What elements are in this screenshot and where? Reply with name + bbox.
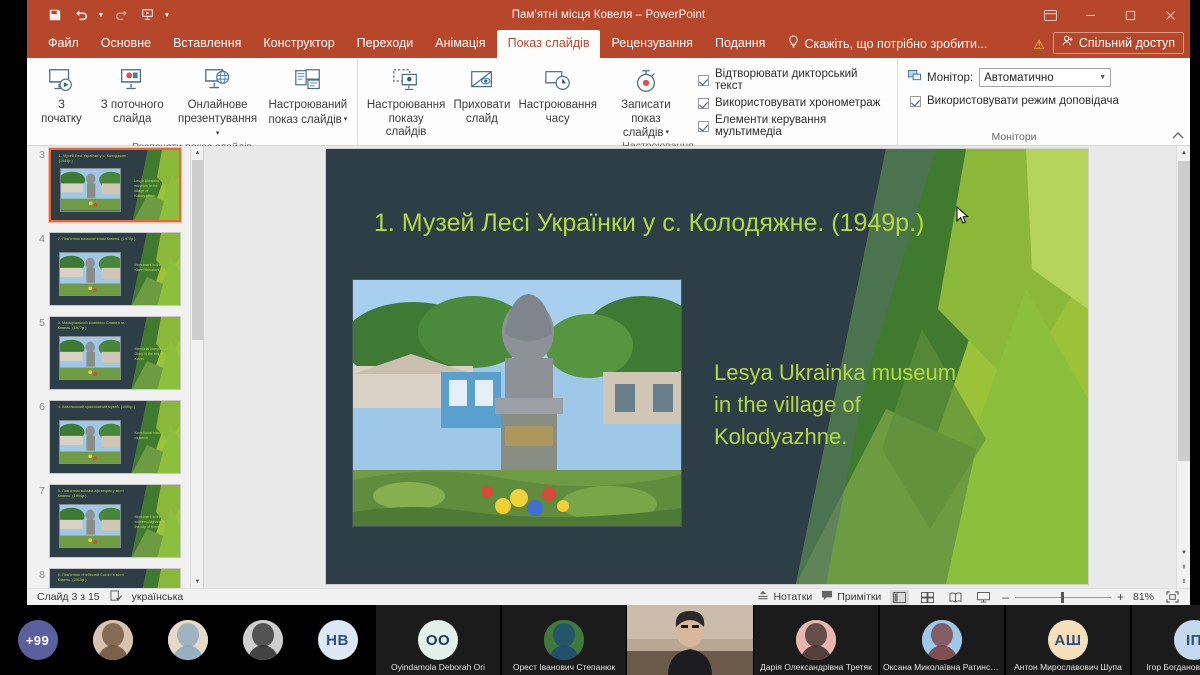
status-bar-right: Нотатки Примітки (757, 590, 1190, 605)
slide-show-options-checkboxes: Відтворювати дикторський текст Використо… (690, 62, 893, 138)
maximize-button[interactable] (1110, 0, 1150, 30)
participant-tile[interactable]: АШАнтон Мирославович Шупа (1005, 605, 1131, 675)
slide-photo[interactable] (352, 279, 682, 527)
slide-thumbnail-7[interactable]: 75. Пам'ятник воїнам-афганцям у місті Ко… (33, 484, 203, 558)
stage-scroll-up-button[interactable]: ▲ (1177, 146, 1190, 160)
thumbnail-scroll-up-button[interactable]: ▲ (191, 146, 204, 159)
ribbon-group-set-up: Настроювання показу слайдів Приховати сл… (357, 58, 897, 146)
zoom-level[interactable]: 81% (1133, 591, 1154, 603)
participant-name: Oyindamola Deborah Ori (376, 662, 500, 672)
set-up-slide-show-button[interactable]: Настроювання показу слайдів (362, 62, 450, 140)
slide-thumbnail-8[interactable]: 86. Пам'ятник «Небесній Сотні» в місті К… (33, 568, 203, 588)
zoom-knob[interactable] (1061, 592, 1064, 603)
quick-access-toolbar: ▼ ▼ (27, 4, 173, 26)
slide-thumbnail-list: 31. Музей Лесі Українки у с. Колодяжне. … (27, 146, 203, 588)
participant-initials-avatar: АШ (1048, 620, 1088, 660)
monitor-icon (908, 70, 921, 85)
warning-icon[interactable]: ⚠ (1033, 38, 1045, 51)
title-bar: ▼ ▼ Пам'ятні місця Ковеля – PowerPoint (27, 0, 1190, 30)
person-add-icon (1062, 35, 1074, 50)
slide-thumbnail-number: 7 (33, 484, 49, 497)
start-slideshow-icon[interactable] (135, 4, 159, 26)
participant-photo-avatar (922, 620, 962, 660)
comments-label: Примітки (837, 591, 881, 603)
rehearse-timings-button[interactable]: Настроювання часу (514, 62, 602, 126)
slide-thumbnail-number: 3 (33, 148, 49, 161)
thumbnail-pane-scrollbar[interactable]: ▲ ▼ (190, 146, 203, 588)
checkbox-use-presenter-view-box[interactable] (910, 96, 921, 107)
slide-sorter-view-button[interactable] (918, 590, 937, 605)
current-slide[interactable]: 1. Музей Лесі Українки у с. Колодяжне. (… (326, 149, 1088, 584)
zoom-in-button[interactable]: + (1117, 591, 1124, 603)
thumbnail-title: 3. Меморіальний комплекс Слави в м. Кове… (58, 321, 136, 331)
zoom-track[interactable] (1015, 597, 1111, 598)
status-bar: Слайд 3 з 15 українська Нотатки (27, 588, 1190, 605)
participant-initials-avatar: OO (418, 620, 458, 660)
participant-name: Антон Мирославович Шупа (1006, 662, 1130, 672)
from-current-slide-icon (117, 64, 147, 98)
from-beginning-label: З початку (41, 99, 82, 126)
from-beginning-button[interactable]: З початку (31, 62, 92, 126)
hide-slide-icon (467, 64, 497, 98)
monitor-row: Монітор: Автоматично ▼ (902, 62, 1111, 87)
tab-design[interactable]: Конструктор (252, 30, 345, 58)
monitor-select[interactable]: Автоматично ▼ (979, 68, 1111, 87)
participant-avatar-tile[interactable] (75, 605, 150, 675)
participant-photo-avatar (168, 620, 208, 660)
tell-me-placeholder: Скажіть, що потрібно зробити... (804, 30, 987, 58)
monitor-label: Монітор: (927, 72, 973, 84)
slide-thumbnail-number: 6 (33, 400, 49, 413)
comments-button[interactable]: Примітки (821, 590, 881, 604)
rehearse-timings-label: Настроювання часу (518, 99, 596, 126)
participant-avatar-tile[interactable] (627, 605, 753, 675)
thumbnail-scroll-down-button[interactable]: ▼ (191, 575, 204, 588)
participant-name: Ігор Богданович Паньків (1132, 662, 1200, 672)
record-slide-show-button[interactable]: Записати показ слайдів ▾ (602, 62, 690, 140)
customize-qat-icon[interactable]: ▼ (161, 4, 173, 26)
participant-photo-avatar (243, 620, 283, 660)
share-button[interactable]: Спільний доступ (1053, 32, 1184, 54)
set-up-slide-show-icon (391, 64, 421, 98)
zoom-out-button[interactable]: – (1002, 591, 1009, 603)
thumbnail-title: 2. Пам'ятник визволителям Ковеля. (1970р… (58, 237, 136, 242)
thumbnail-body: Monument to the soldiers-Afghans in the … (135, 515, 169, 530)
slide-thumbnail-3[interactable]: 31. Музей Лесі Українки у с. Колодяжне. … (33, 148, 203, 222)
custom-slide-show-button[interactable]: Настроюваний показ слайдів ▾ (263, 62, 353, 127)
notes-label: Нотатки (773, 591, 812, 603)
accessibility-checker-icon[interactable] (110, 590, 122, 605)
checkbox-use-timings-label: Використовувати хронометраж (715, 97, 880, 109)
tab-home[interactable]: Основне (90, 30, 162, 58)
checkbox-use-presenter-view[interactable]: Використовувати режим доповідача (910, 95, 1119, 107)
save-icon[interactable] (43, 4, 67, 26)
participant-avatar-tile[interactable] (150, 605, 225, 675)
participant-overflow-badge[interactable]: +99 (0, 605, 75, 675)
lightbulb-icon (788, 30, 799, 58)
slide-thumbnail-pane[interactable]: 31. Музей Лесі Українки у с. Колодяжне. … (27, 146, 204, 588)
tab-file[interactable]: Файл (37, 30, 90, 58)
tab-slide-show[interactable]: Показ слайдів (497, 30, 601, 58)
thumbnail-photo (59, 504, 121, 549)
thumbnail-body: Kovel local history museum. (135, 431, 169, 441)
present-online-label: Онлайнове презентування ▾ (177, 99, 257, 141)
reading-view-button[interactable] (946, 590, 965, 605)
thumbnail-photo (59, 336, 121, 381)
chevron-down-icon: ▼ (1099, 74, 1106, 81)
slide-stage[interactable]: 1. Музей Лесі Українки у с. Колодяжне. (… (204, 146, 1190, 588)
tab-transitions[interactable]: Переходи (346, 30, 425, 58)
participant-name: Оксана Миколаївна Ратинська (880, 662, 1004, 672)
language-indicator[interactable]: українська (132, 591, 184, 603)
monitor-select-value: Автоматично (984, 72, 1054, 84)
window-title: Пам'ятні місця Ковеля – PowerPoint (27, 9, 1190, 21)
checkbox-media-controls-box[interactable] (698, 121, 709, 132)
tell-me-search[interactable]: Скажіть, що потрібно зробити... (776, 30, 987, 58)
checkbox-play-narrations-label: Відтворювати дикторський текст (715, 68, 887, 92)
slide-thumbnail-number: 5 (33, 316, 49, 329)
tabstrip-right: ⚠ Спільний доступ (1033, 30, 1184, 58)
slide-thumbnail-5[interactable]: 53. Меморіальний комплекс Слави в м. Ков… (33, 316, 203, 390)
thumbnail-photo (59, 252, 121, 297)
set-up-slide-show-label: Настроювання показу слайдів (367, 99, 445, 140)
thumbnail-title: 5. Пам'ятник воїнам-афганцям у місті Ков… (58, 489, 136, 499)
custom-slide-show-icon (293, 64, 323, 98)
participant-photo-avatar (93, 620, 133, 660)
ribbon-group-monitors: Монітор: Автоматично ▼ Використовувати р… (897, 58, 1130, 146)
undo-icon[interactable] (69, 4, 93, 26)
tab-view[interactable]: Подання (704, 30, 776, 58)
checkbox-use-presenter-view-label: Використовувати режим доповідача (927, 95, 1119, 107)
work-area: 31. Музей Лесі Українки у с. Колодяжне. … (27, 146, 1190, 588)
participant-photo-avatar (796, 620, 836, 660)
participant-avatar-tile[interactable]: НВ (300, 605, 375, 675)
thumbnail-title: 4. Ковельський краєзнавчий музей. (1985р… (58, 405, 136, 410)
next-slide-button[interactable]: ⇟ (1177, 574, 1190, 588)
close-button[interactable] (1150, 0, 1190, 30)
slide-body-text[interactable]: Lesya Ukrainka museum in the village of … (714, 357, 974, 453)
slide-thumbnail-4[interactable]: 42. Пам'ятник визволителям Ковеля. (1970… (33, 232, 203, 306)
slide-thumbnail-canvas[interactable]: 1. Музей Лесі Українки у с. Колодяжне. (… (49, 148, 181, 222)
hide-slide-label: Приховати слайд (453, 99, 510, 126)
from-current-slide-label: З поточного слайда (101, 99, 164, 126)
normal-view-button[interactable] (890, 590, 909, 605)
mouse-cursor (956, 206, 969, 229)
participant-tile[interactable]: Оксана Миколаївна Ратинська (879, 605, 1005, 675)
tab-animations[interactable]: Анімація (424, 30, 496, 58)
participant-tile[interactable]: Дарія Олександрівна Третяк (753, 605, 879, 675)
thumbnail-photo (60, 168, 121, 211)
minimize-button[interactable] (1070, 0, 1110, 30)
comment-icon (821, 590, 833, 604)
previous-slide-button[interactable]: ⇞ (1177, 560, 1190, 574)
slide-title[interactable]: 1. Музей Лесі Українки у с. Колодяжне. (… (374, 207, 994, 240)
thumbnail-title: 1. Музей Лесі Українки у с. Колодяжне. (… (59, 154, 136, 164)
thumbnail-photo (59, 420, 121, 465)
notes-button[interactable]: Нотатки (757, 590, 812, 604)
active-speaker-video[interactable] (627, 605, 753, 675)
thumbnail-scroll-thumb[interactable] (192, 160, 203, 340)
screen-root: ▼ ▼ Пам'ятні місця Ковеля – PowerPoint (0, 0, 1200, 675)
hide-slide-button[interactable]: Приховати слайд (450, 62, 513, 126)
thumbnail-title: 6. Пам'ятник «Небесній Сотні» в місті Ко… (58, 573, 136, 583)
slide-thumbnail-number: 8 (33, 568, 49, 581)
participant-avatar-tile[interactable] (225, 605, 300, 675)
slide-counter[interactable]: Слайд 3 з 15 (37, 591, 100, 603)
participant-tile[interactable]: OOOyindamola Deborah Ori (375, 605, 501, 675)
slide-thumbnail-canvas[interactable]: 5. Пам'ятник воїнам-афганцям у місті Ков… (49, 484, 181, 558)
present-online-icon (203, 64, 233, 98)
ribbon: З початку З поточного слайда (27, 58, 1190, 146)
slide-thumbnail-6[interactable]: 64. Ковельський краєзнавчий музей. (1985… (33, 400, 203, 474)
tab-review[interactable]: Рецензування (600, 30, 703, 58)
tab-insert[interactable]: Вставлення (162, 30, 252, 58)
from-current-slide-button[interactable]: З поточного слайда (92, 62, 173, 126)
window-controls (1030, 0, 1190, 30)
slide-thumbnail-canvas[interactable]: 6. Пам'ятник «Небесній Сотні» в місті Ко… (49, 568, 181, 588)
slide-show-view-button[interactable] (974, 590, 993, 605)
thumbnail-body: Lesya Ukrainka museum in the village of … (134, 179, 167, 199)
stage-scroll-down-button[interactable]: ▼ (1177, 546, 1190, 560)
fit-slide-to-window-icon[interactable] (1163, 590, 1182, 605)
participant-name: Дарія Олександрівна Третяк (754, 662, 878, 672)
powerpoint-window: ▼ ▼ Пам'ятні місця Ковеля – PowerPoint (27, 0, 1190, 605)
record-slide-show-icon (631, 64, 661, 98)
checkbox-media-controls[interactable]: Елементи керування мультимедіа (698, 114, 887, 138)
checkbox-play-narrations-box[interactable] (698, 75, 709, 86)
ribbon-display-options-button[interactable] (1030, 0, 1070, 30)
thumbnail-body: Memorial complex of Glory in the city of… (135, 347, 169, 362)
participant-tile[interactable]: ІПІгор Богданович Паньків (1131, 605, 1200, 675)
checkbox-play-narrations[interactable]: Відтворювати дикторський текст (698, 68, 887, 92)
video-conference-strip: +99НВOOOyindamola Deborah OriОрест Івано… (0, 605, 1200, 675)
custom-slide-show-label: Настроюваний показ слайдів ▾ (268, 99, 347, 127)
ribbon-group-label-monitors: Монітори (898, 131, 1130, 146)
ribbon-tabstrip: Файл Основне Вставлення Конструктор Пере… (27, 30, 1190, 58)
checkbox-use-timings-box[interactable] (698, 98, 709, 109)
slide-thumbnail-canvas[interactable]: 2. Пам'ятник визволителям Ковеля. (1970р… (49, 232, 181, 306)
rehearse-timings-icon (543, 64, 573, 98)
slide-thumbnail-number: 4 (33, 232, 49, 245)
checkbox-use-timings[interactable]: Використовувати хронометраж (698, 97, 887, 109)
participant-name: Орест Іванович Степанюк (502, 662, 626, 672)
present-online-button[interactable]: Онлайнове презентування ▾ (172, 62, 262, 141)
ribbon-group-start-slide-show: З початку З поточного слайда (27, 58, 357, 146)
redo-icon[interactable] (109, 4, 133, 26)
record-slide-show-label: Записати показ слайдів ▾ (607, 99, 685, 140)
status-bar-left: Слайд 3 з 15 українська (27, 590, 183, 605)
stage-scrollbar[interactable]: ▲ ▼ ⇞ ⇟ (1176, 146, 1190, 588)
from-beginning-icon (46, 64, 76, 98)
notes-icon (757, 590, 769, 604)
undo-dropdown-icon[interactable]: ▼ (95, 4, 107, 26)
slide-thumbnail-canvas[interactable]: 4. Ковельський краєзнавчий музей. (1985р… (49, 400, 181, 474)
participant-tile[interactable]: Орест Іванович Степанюк (501, 605, 627, 675)
slide-thumbnail-canvas[interactable]: 3. Меморіальний комплекс Слави в м. Кове… (49, 316, 181, 390)
zoom-slider[interactable]: – + (1002, 591, 1124, 603)
participant-initials-avatar: НВ (318, 620, 358, 660)
stage-scroll-thumb[interactable] (1178, 161, 1190, 461)
participant-photo-avatar (544, 620, 584, 660)
checkbox-media-controls-label: Елементи керування мультимедіа (715, 114, 887, 138)
collapse-ribbon-button[interactable] (1172, 131, 1184, 143)
participant-initials-avatar: ІП (1174, 620, 1200, 660)
thumbnail-body: Monument to the Kovel liberators. (135, 263, 169, 273)
share-label: Спільний доступ (1079, 36, 1175, 50)
overflow-avatar: +99 (18, 620, 58, 660)
